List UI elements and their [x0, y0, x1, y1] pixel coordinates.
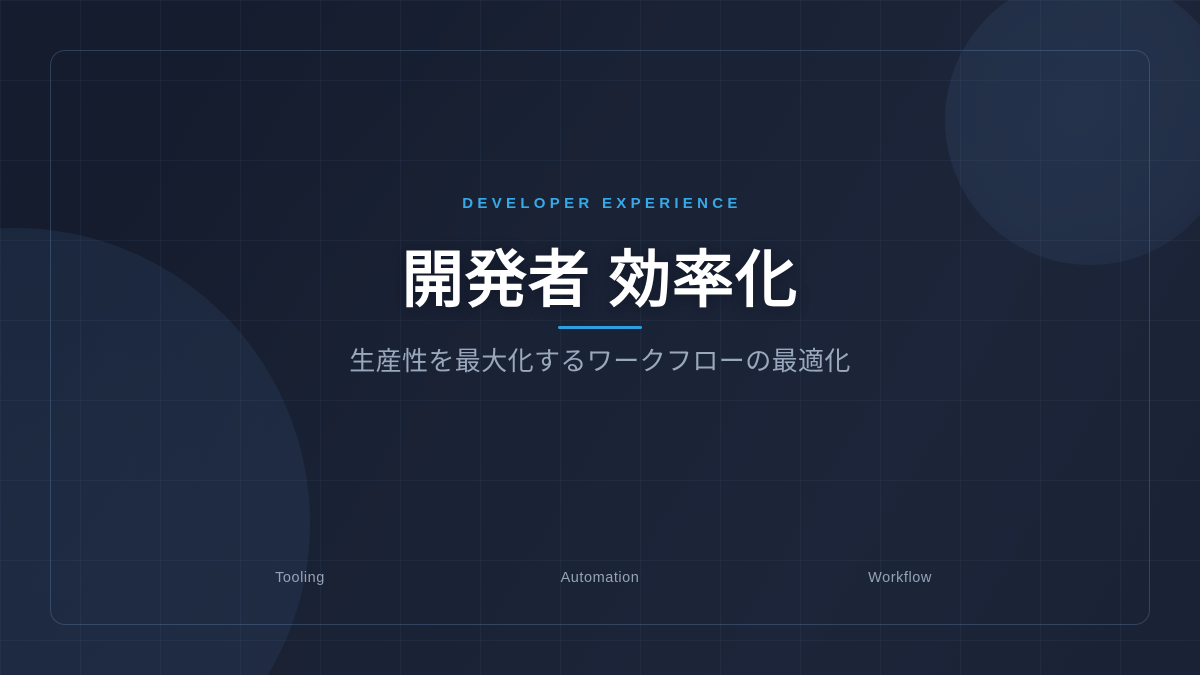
slide-content-block: DEVELOPER EXPERIENCE 開発者 効率化 生産性を最大化するワー…	[0, 196, 1200, 374]
title-underline-accent	[558, 326, 642, 329]
footer-keyword-workflow: Workflow	[750, 571, 1050, 586]
footer-keyword-automation: Automation	[450, 571, 750, 586]
eyebrow-label: DEVELOPER EXPERIENCE	[458, 196, 741, 211]
footer-keyword-tooling: Tooling	[150, 571, 450, 586]
page-title: 開発者 効率化	[402, 250, 798, 312]
slide-subtitle: 生産性を最大化するワークフローの最適化	[349, 348, 851, 374]
title-group: 開発者 効率化	[402, 250, 798, 329]
footer-keyword-row: Tooling Automation Workflow	[150, 571, 1050, 586]
presentation-slide: DEVELOPER EXPERIENCE 開発者 効率化 生産性を最大化するワー…	[0, 0, 1200, 675]
